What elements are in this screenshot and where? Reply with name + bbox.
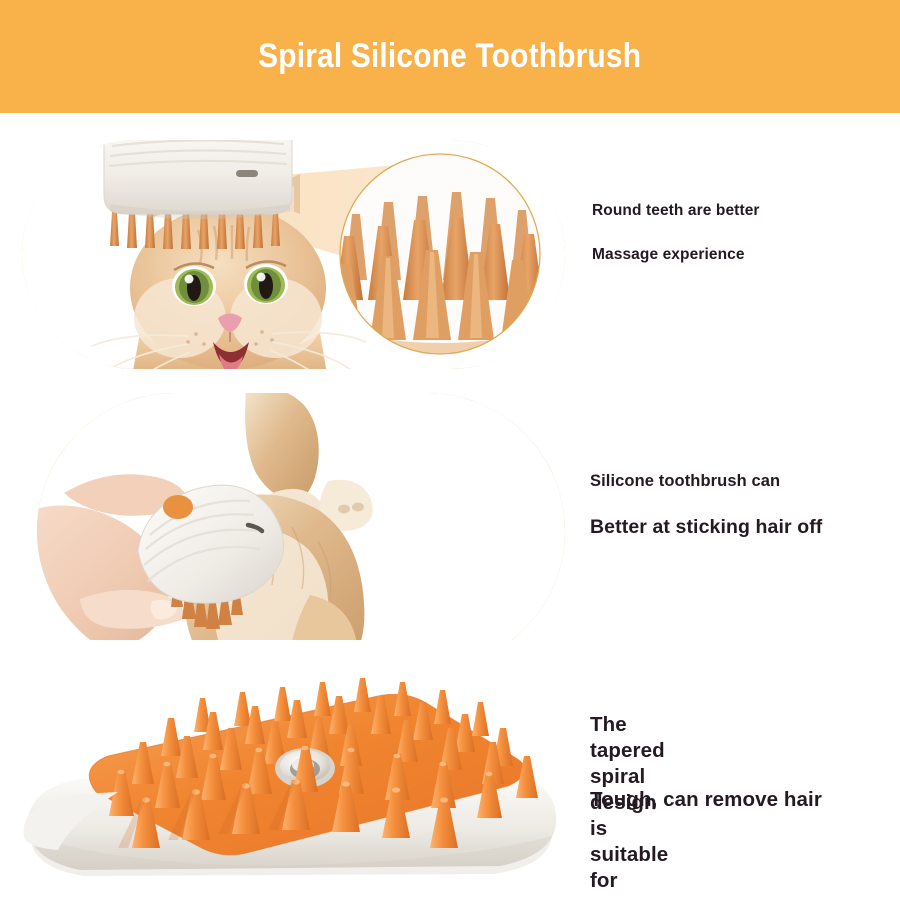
cat-with-brush-on-head-photo (0, 118, 580, 383)
caption-massage: Massage experience (592, 246, 745, 264)
caption-sticking-hair: Better at sticking hair off (590, 516, 822, 539)
usb-c-port (236, 170, 258, 177)
caption-tough-remove: Tough, can remove hair (590, 788, 822, 812)
product-infographic-page: Spiral Silicone Toothbrush (0, 0, 900, 900)
caption-silicone-can: Silicone toothbrush can (590, 472, 780, 491)
caption-round-teeth: Round teeth are better (592, 202, 760, 220)
power-button (163, 495, 193, 519)
orange-silicone-bristle-pad-closeup (0, 640, 590, 900)
header-banner: Spiral Silicone Toothbrush (0, 0, 900, 113)
page-title: Spiral Silicone Toothbrush (258, 37, 641, 76)
